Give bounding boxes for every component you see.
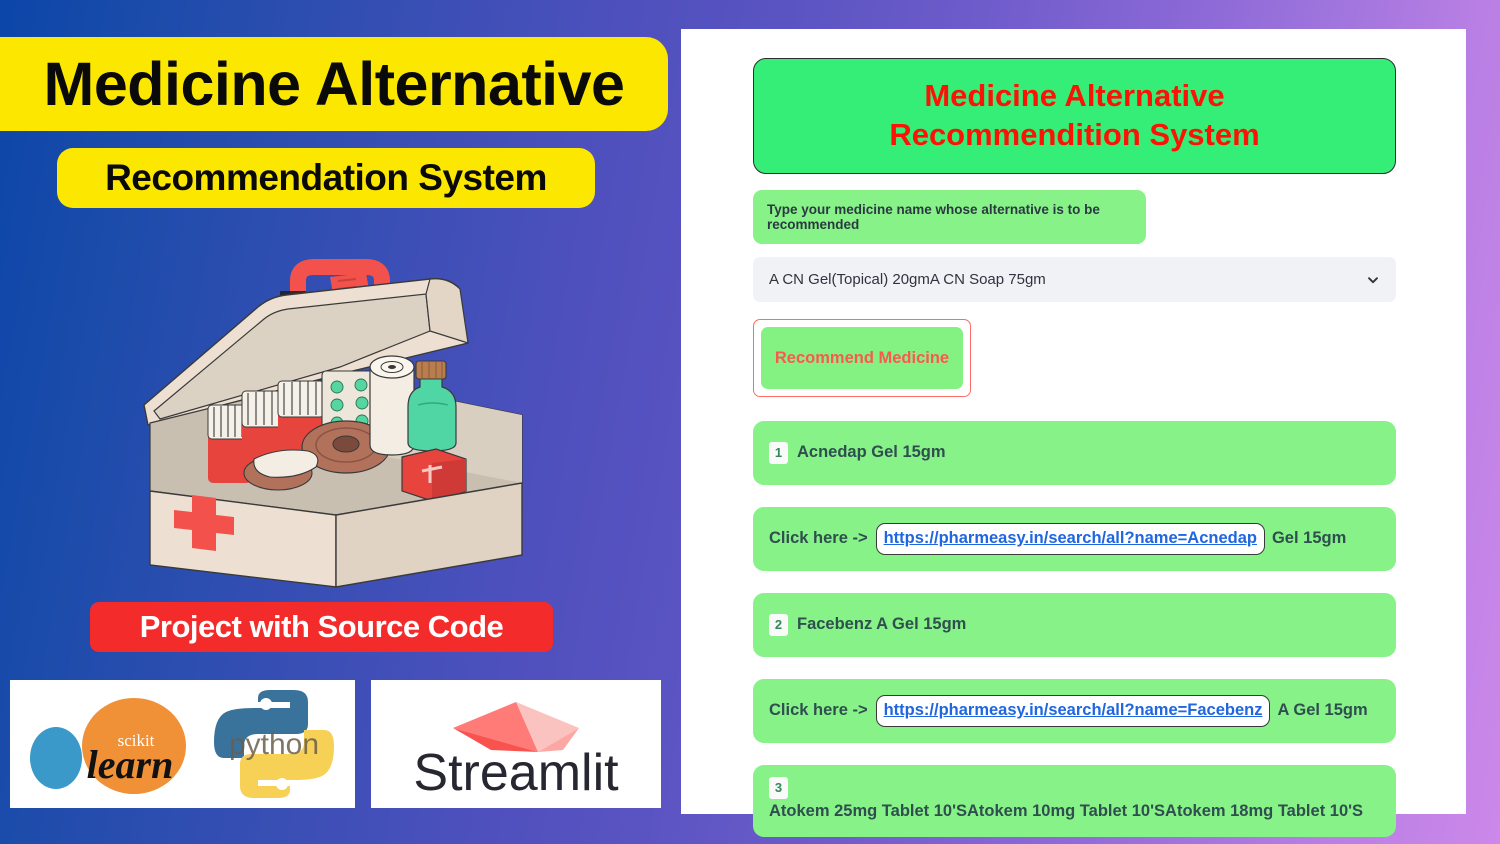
result-card: 2 Facebenz A Gel 15gm <box>753 593 1396 657</box>
pharmeasy-link[interactable]: https://pharmeasy.in/search/all?name=Acn… <box>884 529 1257 547</box>
pharmeasy-link-chip[interactable]: https://pharmeasy.in/search/all?name=Fac… <box>876 695 1271 728</box>
result-link-suffix: Gel 15gm <box>1272 526 1346 552</box>
svg-text:Streamlit: Streamlit <box>413 744 619 800</box>
result-card: 3 Atokem 25mg Tablet 10'SAtokem 10mg Tab… <box>753 765 1396 837</box>
streamlit-app-panel: Medicine Alternative Recommendition Syst… <box>681 29 1466 814</box>
result-link-suffix: A Gel 15gm <box>1277 698 1367 724</box>
medicine-select-value: A CN Gel(Topical) 20gmA CN Soap 75gm <box>769 271 1365 288</box>
medicine-select[interactable]: A CN Gel(Topical) 20gmA CN Soap 75gm <box>753 257 1396 302</box>
svg-text:learn: learn <box>86 742 173 787</box>
scikit-learn-logo: scikit learn python <box>10 680 355 808</box>
promo-cta-badge: Project with Source Code <box>90 602 553 652</box>
result-number-badge: 1 <box>769 442 788 464</box>
promo-title-line2: Recommendation System <box>57 148 595 208</box>
chevron-down-icon[interactable] <box>1365 272 1380 287</box>
app-title-banner: Medicine Alternative Recommendition Syst… <box>753 58 1396 174</box>
promo-title-line1: Medicine Alternative <box>0 37 668 131</box>
result-link-card: Click here -> https://pharmeasy.in/searc… <box>753 679 1396 743</box>
recommend-medicine-button[interactable]: Recommend Medicine <box>761 327 963 389</box>
streamlit-logo: Streamlit <box>371 680 661 808</box>
click-here-label: Click here -> <box>769 698 868 724</box>
recommend-medicine-button-wrapper[interactable]: Recommend Medicine <box>753 319 971 397</box>
result-medicine-name: Facebenz A Gel 15gm <box>797 612 1380 638</box>
pharmeasy-link-chip[interactable]: https://pharmeasy.in/search/all?name=Acn… <box>876 523 1265 556</box>
result-medicine-name: Atokem 25mg Tablet 10'SAtokem 10mg Table… <box>769 799 1380 825</box>
svg-text:python: python <box>228 728 318 761</box>
result-number-badge: 3 <box>769 777 788 799</box>
result-card: 1 Acnedap Gel 15gm <box>753 421 1396 485</box>
click-here-label: Click here -> <box>769 526 868 552</box>
medicine-select-label: Type your medicine name whose alternativ… <box>753 190 1146 244</box>
app-content: Medicine Alternative Recommendition Syst… <box>753 58 1396 837</box>
first-aid-kit-illustration <box>130 215 550 605</box>
result-number-badge: 2 <box>769 614 788 636</box>
app-title-line1: Medicine Alternative <box>924 77 1224 116</box>
app-title-line2: Recommendition System <box>889 116 1259 155</box>
result-link-card: Click here -> https://pharmeasy.in/searc… <box>753 507 1396 571</box>
result-medicine-name: Acnedap Gel 15gm <box>797 440 1380 466</box>
promo-panel: Medicine Alternative Recommendation Syst… <box>0 0 680 844</box>
pharmeasy-link[interactable]: https://pharmeasy.in/search/all?name=Fac… <box>884 701 1263 719</box>
